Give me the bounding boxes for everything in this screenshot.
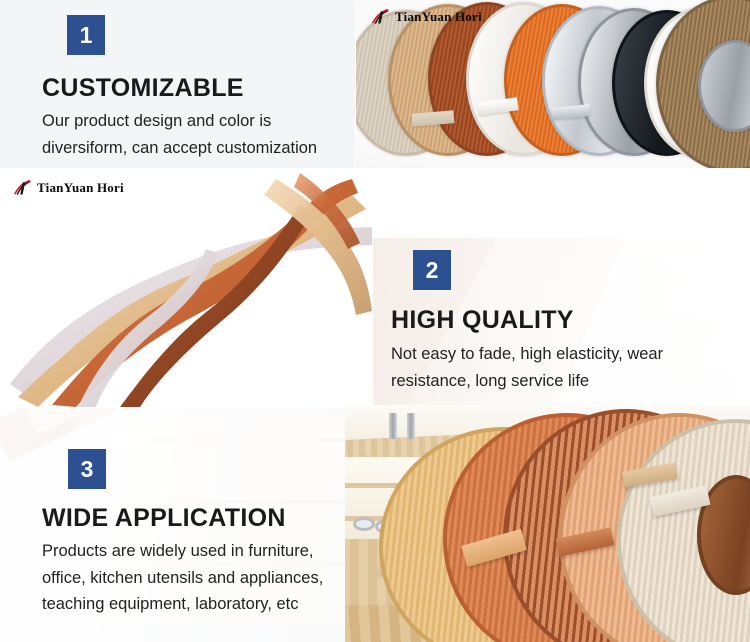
feature-body-3: Products are widely used in furniture, o…	[42, 538, 357, 618]
interior-hob-ring-1	[353, 517, 375, 531]
feature-body-line: Our product design and color is	[42, 108, 352, 135]
feature-panel-2: 2 HIGH QUALITY Not easy to fade, high el…	[373, 238, 750, 407]
feature-panel-3: 3 WIDE APPLICATION Products are widely u…	[0, 408, 360, 642]
interior-candlestick-1	[389, 413, 397, 439]
brand-mark-icon	[370, 8, 392, 25]
feature-body-line: diversiform, can accept customization	[42, 135, 352, 162]
feature-body-line: office, kitchen utensils and appliances,	[42, 565, 357, 592]
interior-candlestick-2	[407, 413, 415, 439]
feature-number-badge-1: 1	[67, 15, 105, 55]
brand-name-text: TianYuan Hori	[395, 9, 482, 25]
feature-body-2: Not easy to fade, high elasticity, wear …	[391, 341, 741, 394]
feature-heading-2: HIGH QUALITY	[391, 306, 574, 335]
brand-name-text: TianYuan Hori	[37, 180, 124, 196]
feature-body-line: Products are widely used in furniture,	[42, 538, 357, 565]
brand-logo-rolls: TianYuan Hori	[370, 8, 482, 25]
brand-logo-ribbons: TianYuan Hori	[12, 179, 124, 196]
edge-banding-rolls-photo: TianYuan Hori	[356, 0, 750, 168]
ribbon-artwork	[0, 169, 372, 407]
feature-number-badge-2: 2	[413, 250, 451, 290]
edge-banding-ribbons-photo: TianYuan Hori	[0, 169, 372, 407]
brand-mark-icon	[12, 179, 34, 196]
feature-body-line: Not easy to fade, high elasticity, wear	[391, 341, 741, 368]
feature-body-line: resistance, long service life	[391, 368, 741, 395]
feature-body-line: teaching equipment, laboratory, etc	[42, 591, 357, 618]
feature-heading-3: WIDE APPLICATION	[42, 504, 286, 533]
feature-body-1: Our product design and color is diversif…	[42, 108, 352, 161]
feature-number-badge-3: 3	[68, 449, 106, 489]
product-feature-infographic: 1 CUSTOMIZABLE Our product design and co…	[0, 0, 750, 642]
feature-heading-1: CUSTOMIZABLE	[42, 74, 244, 103]
interior-application-photo	[345, 405, 750, 642]
feature-panel-1: 1 CUSTOMIZABLE Our product design and co…	[0, 0, 355, 168]
